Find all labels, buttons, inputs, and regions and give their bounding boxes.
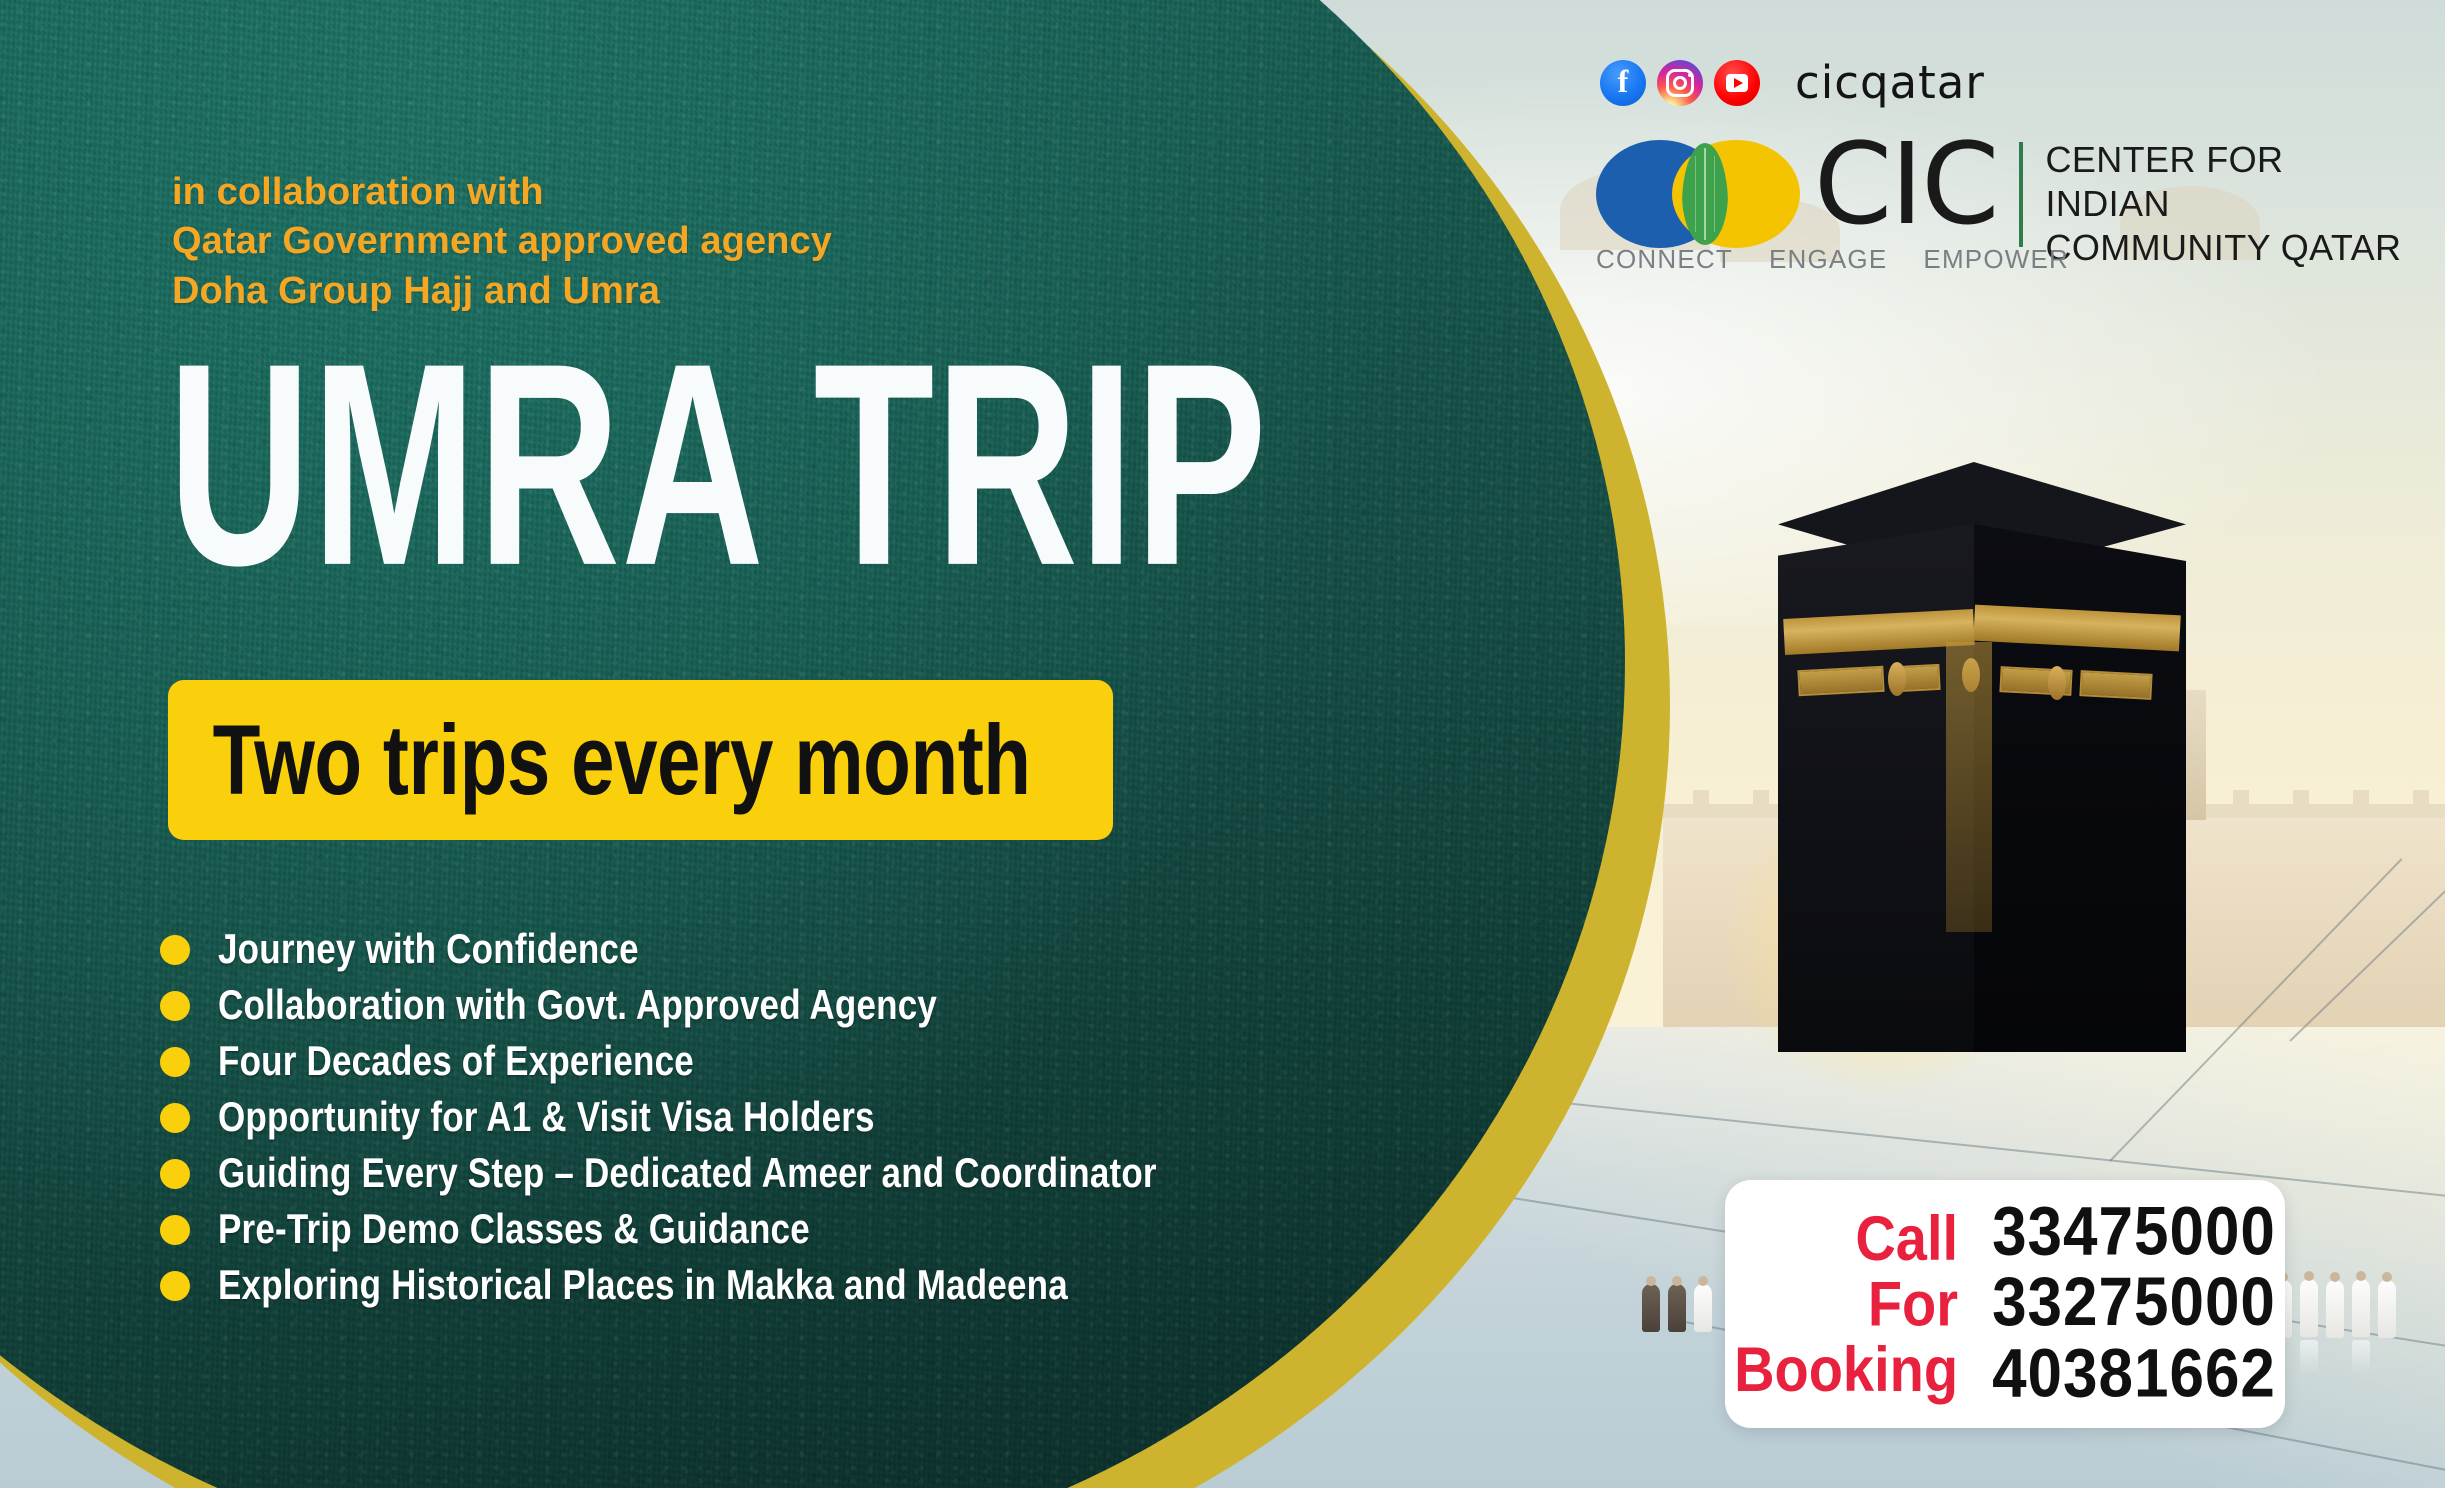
pilgrim [2378, 1280, 2396, 1338]
phone-number[interactable]: 33475000 [1992, 1198, 2276, 1269]
list-item: Opportunity for A1 & Visit Visa Holders [160, 1100, 1157, 1136]
logo-line-1: CENTER FOR [2045, 138, 2401, 182]
phone-number[interactable]: 40381662 [1992, 1339, 2276, 1410]
kiswah-panel [2079, 670, 2152, 700]
call-for-booking-card: Call For Booking 33475000 33275000 40381… [1725, 1180, 2285, 1428]
youtube-icon[interactable] [1714, 60, 1760, 106]
highlight-banner-label: Two trips every month [168, 703, 1031, 817]
collaboration-line-1: in collaboration with [172, 168, 832, 217]
list-item: Journey with Confidence [160, 932, 1157, 968]
collaboration-block: in collaboration with Qatar Government a… [172, 168, 832, 316]
bullet-dot-icon [160, 1103, 190, 1133]
bullet-dot-icon [160, 935, 190, 965]
kaaba-door-calligraphy [1946, 642, 1992, 932]
feature-label: Guiding Every Step – Dedicated Ameer and… [218, 1150, 1157, 1198]
kaaba-right-face [1974, 524, 2186, 1052]
list-item: Exploring Historical Places in Makka and… [160, 1268, 1157, 1304]
page-title: UMRA TRIP [168, 332, 1268, 597]
feature-label: Pre-Trip Demo Classes & Guidance [218, 1206, 810, 1254]
feature-label: Four Decades of Experience [218, 1038, 694, 1086]
umra-trip-poster: in collaboration with Qatar Government a… [0, 0, 2445, 1488]
tagline-empower: EMPOWER [1923, 244, 2069, 275]
list-item: Collaboration with Govt. Approved Agency [160, 988, 1157, 1024]
pilgrim [2300, 1279, 2318, 1337]
logo-divider [2019, 142, 2023, 247]
feature-label: Journey with Confidence [218, 926, 639, 974]
pilgrim [2352, 1279, 2370, 1337]
bullet-dot-icon [160, 1215, 190, 1245]
cic-tagline: CONNECT ENGAGE EMPOWER [1596, 244, 2069, 275]
collaboration-line-2: Qatar Government approved agency [172, 217, 832, 266]
call-for-booking-label: Call For Booking [1734, 1205, 1958, 1402]
list-item: Guiding Every Step – Dedicated Ameer and… [160, 1156, 1157, 1192]
bullet-dot-icon [160, 991, 190, 1021]
left-content-panel: in collaboration with Qatar Government a… [0, 0, 1250, 1488]
pilgrim-reflection [2300, 1340, 2318, 1374]
cic-logo-mark-icon [1596, 140, 1806, 252]
highlight-banner: Two trips every month [168, 680, 1113, 840]
feature-label: Opportunity for A1 & Visit Visa Holders [218, 1094, 875, 1142]
bullet-dot-icon [160, 1271, 190, 1301]
cic-logo-fullname: CENTER FOR INDIAN COMMUNITY QATAR [2045, 138, 2401, 270]
social-media-row: cicqatar [1600, 56, 1985, 109]
pilgrim [1668, 1284, 1686, 1332]
tagline-engage: ENGAGE [1769, 244, 1887, 275]
bullet-dot-icon [160, 1047, 190, 1077]
kaaba [1778, 462, 2186, 1052]
features-list: Journey with Confidence Collaboration wi… [160, 932, 1157, 1324]
pilgrim [1642, 1284, 1660, 1332]
cic-logo-initials: CIC [1814, 132, 1997, 238]
logo-line-2: INDIAN [2045, 182, 2401, 226]
feature-label: Collaboration with Govt. Approved Agency [218, 982, 937, 1030]
phone-number[interactable]: 33275000 [1992, 1269, 2276, 1340]
feature-label: Exploring Historical Places in Makka and… [218, 1262, 1068, 1310]
phone-number-list: 33475000 33275000 40381662 [1992, 1198, 2276, 1411]
call-label-line-2: For [1734, 1271, 1958, 1337]
instagram-icon[interactable] [1657, 60, 1703, 106]
call-label-line-1: Call [1734, 1205, 1958, 1271]
kaaba-left-face [1778, 524, 1974, 1052]
list-item: Four Decades of Experience [160, 1044, 1157, 1080]
bullet-dot-icon [160, 1159, 190, 1189]
pilgrim [2326, 1280, 2344, 1338]
kiswah-panel [1797, 666, 1884, 696]
logo-line-3: COMMUNITY QATAR [2045, 226, 2401, 270]
list-item: Pre-Trip Demo Classes & Guidance [160, 1212, 1157, 1248]
tagline-connect: CONNECT [1596, 244, 1733, 275]
facebook-icon[interactable] [1600, 60, 1646, 106]
kiswah-lozenge [2048, 666, 2066, 700]
pilgrim-reflection [2352, 1340, 2370, 1374]
social-handle: cicqatar [1795, 56, 1985, 109]
call-label-line-3: Booking [1734, 1337, 1958, 1403]
pilgrim [1694, 1284, 1712, 1332]
kiswah-lozenge [1888, 662, 1906, 696]
